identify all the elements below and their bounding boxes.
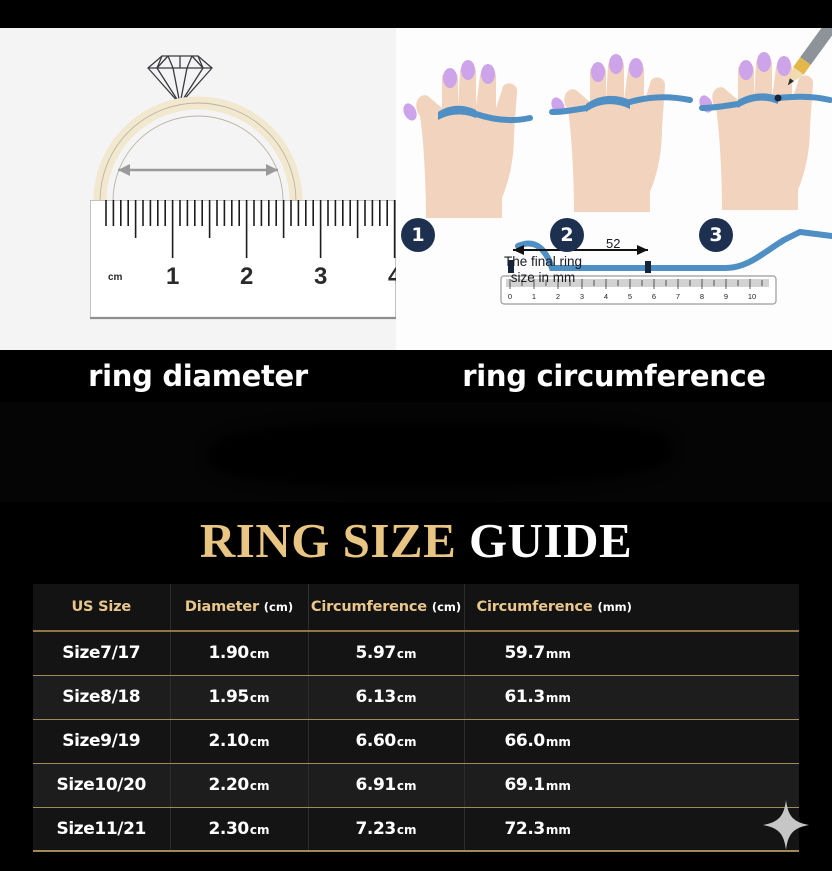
page-title-white: GUIDE: [469, 513, 632, 568]
final-ring-size-note: The final ring size in mm: [483, 254, 603, 286]
svg-text:2: 2: [556, 292, 560, 301]
svg-text:5: 5: [628, 292, 632, 301]
cell-circumference-mm-value: 59.7: [505, 643, 545, 663]
svg-text:7: 7: [676, 292, 680, 301]
cell-diameter-value: 1.90: [209, 643, 249, 663]
cell-circumference-mm-value: 69.1: [505, 775, 545, 795]
cell-circumference-mm: 69.1mm: [464, 763, 799, 807]
svg-text:9: 9: [724, 292, 728, 301]
cell-diameter-value: 1.95: [209, 687, 249, 707]
sparkle-icon: [763, 800, 809, 850]
cell-diameter-value: 2.10: [209, 731, 249, 751]
cell-circumference-mm: 61.3mm: [464, 675, 799, 719]
table-row: Size10/20 2.20cm 6.91cm 69.1mm: [33, 763, 799, 807]
svg-text:2: 2: [240, 263, 253, 290]
caption-ring-circumference: ring circumference: [396, 350, 832, 402]
cell-circumference-cm-value: 7.23: [356, 819, 396, 839]
table-row: Size7/17 1.90cm 5.97cm 59.7mm: [33, 631, 799, 675]
table-header-row: US Size Diameter (cm) Circumference (cm)…: [33, 584, 799, 631]
step-badge-1: 1: [401, 218, 435, 252]
cell-circumference-mm: 59.7mm: [464, 631, 799, 675]
svg-text:8: 8: [700, 292, 704, 301]
cell-circumference-cm-unit: cm: [396, 779, 417, 793]
cell-us-size: Size8/18: [33, 675, 170, 719]
svg-text:3: 3: [580, 292, 584, 301]
cell-circumference-cm-unit: cm: [396, 647, 417, 661]
column-header-circumference-mm: Circumference (mm): [464, 584, 799, 631]
cell-circumference-mm-value: 61.3: [505, 687, 545, 707]
column-header-circumference-cm-unit: (cm): [432, 600, 461, 614]
measured-value-label: 52: [606, 236, 620, 251]
step-badge-2: 2: [550, 218, 584, 252]
ring-size-guide-page: cm 1 2 3 4: [0, 0, 832, 871]
cell-diameter-unit: cm: [249, 823, 270, 837]
ring-size-table: US Size Diameter (cm) Circumference (cm)…: [33, 584, 799, 852]
final-ring-note-line1: The final ring: [483, 254, 603, 270]
caption-ring-diameter: ring diameter: [0, 350, 396, 402]
cell-circumference-mm-unit: mm: [545, 779, 571, 793]
redacted-band: [0, 402, 832, 502]
svg-text:4: 4: [604, 292, 608, 301]
column-header-diameter-unit: (cm): [264, 600, 293, 614]
cell-circumference-cm: 7.23cm: [308, 807, 464, 851]
page-title: RING SIZE GUIDE: [0, 512, 832, 569]
cell-circumference-cm: 6.60cm: [308, 719, 464, 763]
cell-circumference-mm: 72.3mm: [464, 807, 799, 851]
cell-circumference-mm-unit: mm: [545, 691, 571, 705]
cell-diameter-unit: cm: [249, 691, 270, 705]
cell-diameter-unit: cm: [249, 779, 270, 793]
final-ring-note-line2: size in mm: [483, 270, 603, 286]
table-row: Size8/18 1.95cm 6.13cm 61.3mm: [33, 675, 799, 719]
cell-diameter-value: 2.20: [209, 775, 249, 795]
cell-diameter-unit: cm: [249, 735, 270, 749]
table-row: Size9/19 2.10cm 6.60cm 66.0mm: [33, 719, 799, 763]
cell-circumference-mm: 66.0mm: [464, 719, 799, 763]
column-header-us-size-label: US Size: [71, 599, 131, 615]
cell-diameter: 1.90cm: [170, 631, 308, 675]
ring-diameter-illustration: cm 1 2 3 4: [0, 28, 396, 350]
svg-text:1: 1: [166, 263, 179, 290]
cell-diameter: 2.30cm: [170, 807, 308, 851]
svg-text:1: 1: [532, 292, 536, 301]
cell-circumference-cm: 6.13cm: [308, 675, 464, 719]
redaction-smudge: [210, 422, 670, 486]
ring-circumference-illustration: 012 345 678 910 1 2 3 The final ring siz…: [396, 28, 832, 350]
cell-circumference-mm-unit: mm: [545, 823, 571, 837]
cell-circumference-cm-unit: cm: [396, 735, 417, 749]
cell-diameter: 2.10cm: [170, 719, 308, 763]
svg-text:4: 4: [388, 263, 396, 290]
page-title-gold: RING SIZE: [200, 513, 456, 568]
svg-text:6: 6: [652, 292, 656, 301]
illustration-strip: cm 1 2 3 4: [0, 28, 832, 350]
cell-circumference-mm-value: 72.3: [505, 819, 545, 839]
svg-text:10: 10: [748, 292, 756, 301]
ring-band-illustration: [88, 88, 308, 203]
cell-circumference-cm-value: 6.91: [356, 775, 396, 795]
cell-us-size: Size11/21: [33, 807, 170, 851]
cell-diameter: 1.95cm: [170, 675, 308, 719]
cell-circumference-cm-value: 5.97: [356, 643, 396, 663]
column-header-diameter: Diameter (cm): [170, 584, 308, 631]
cell-circumference-cm-unit: cm: [396, 823, 417, 837]
ruler-illustration: cm 1 2 3 4: [90, 200, 396, 340]
cell-circumference-cm: 6.91cm: [308, 763, 464, 807]
column-header-circumference-mm-unit: (mm): [597, 600, 631, 614]
cell-circumference-cm-value: 6.13: [356, 687, 396, 707]
cell-diameter-value: 2.30: [209, 819, 249, 839]
cell-circumference-cm: 5.97cm: [308, 631, 464, 675]
column-header-circumference-cm-label: Circumference: [311, 599, 427, 615]
svg-text:0: 0: [508, 292, 512, 301]
cell-circumference-cm-value: 6.60: [356, 731, 396, 751]
ruler-unit-label: cm: [108, 272, 123, 283]
cell-us-size: Size9/19: [33, 719, 170, 763]
ring-diameter-arrow: [118, 164, 278, 176]
column-header-us-size: US Size: [33, 584, 170, 631]
cell-circumference-mm-value: 66.0: [505, 731, 545, 751]
cell-circumference-mm-unit: mm: [545, 735, 571, 749]
step-badge-3: 3: [699, 218, 733, 252]
column-header-circumference-cm: Circumference (cm): [308, 584, 464, 631]
table-row: Size11/21 2.30cm 7.23cm 72.3mm: [33, 807, 799, 851]
caption-row: ring diameter ring circumference: [0, 350, 832, 402]
column-header-diameter-label: Diameter: [185, 599, 259, 615]
hands-steps-illustration: 012 345 678 910: [396, 28, 832, 350]
cell-circumference-mm-unit: mm: [545, 647, 571, 661]
cell-us-size: Size7/17: [33, 631, 170, 675]
cell-us-size: Size10/20: [33, 763, 170, 807]
column-header-circumference-mm-label: Circumference: [477, 599, 593, 615]
cell-diameter-unit: cm: [249, 647, 270, 661]
cell-circumference-cm-unit: cm: [396, 691, 417, 705]
svg-text:3: 3: [314, 263, 327, 290]
cell-diameter: 2.20cm: [170, 763, 308, 807]
